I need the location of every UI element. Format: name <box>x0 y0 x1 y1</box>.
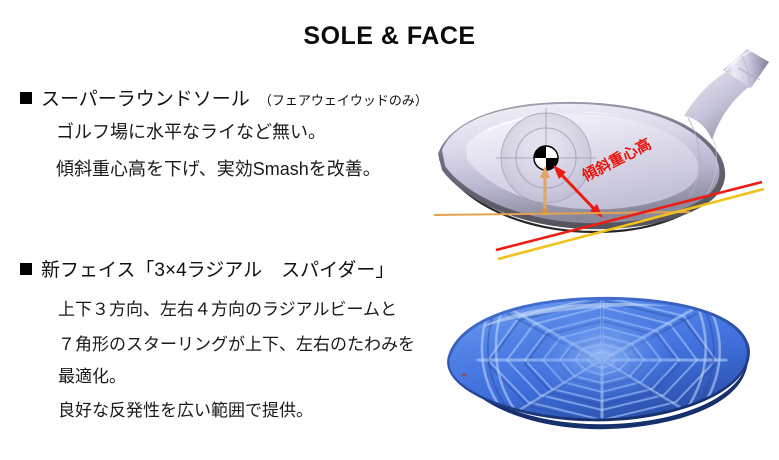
bullet-square-icon <box>20 263 32 275</box>
body-line: ゴルフ場に水平なライなど無い。 <box>56 118 326 144</box>
body-line: ７角形のスターリングが上下、左右のたわみを <box>58 330 415 355</box>
body-line: 最適化。 <box>58 362 126 387</box>
bullet-heading-text: スーパーラウンドソール <box>41 84 250 111</box>
bullet-heading-text: 新フェイス「3×4ラジアル スパイダー」 <box>41 255 394 282</box>
text-column: スーパーラウンドソール （フェアウェイウッドのみ） ゴルフ場に水平なライなど無い… <box>0 0 430 460</box>
toe-marking-dot <box>462 373 466 377</box>
club-head-figure <box>420 46 779 262</box>
face-center-glow <box>528 310 676 406</box>
bullet-heading-new-face: 新フェイス「3×4ラジアル スパイダー」 <box>20 255 394 282</box>
bullet-square-icon <box>20 92 32 104</box>
body-line: 傾斜重心高を下げ、実効Smashを改善。 <box>56 155 381 181</box>
body-line: 上下３方向、左右４方向のラジアルビームと <box>58 295 397 320</box>
body-line: 良好な反発性を広い範囲で提供。 <box>58 396 313 421</box>
bullet-heading-note: （フェアウェイウッドのみ） <box>259 90 428 109</box>
radial-spider-face-figure <box>420 272 779 452</box>
slide-canvas: SOLE & FACE スーパーラウンドソール （フェアウェイウッドのみ） ゴル… <box>0 0 779 460</box>
bullet-heading-super-round-sole: スーパーラウンドソール （フェアウェイウッドのみ） <box>20 84 428 111</box>
